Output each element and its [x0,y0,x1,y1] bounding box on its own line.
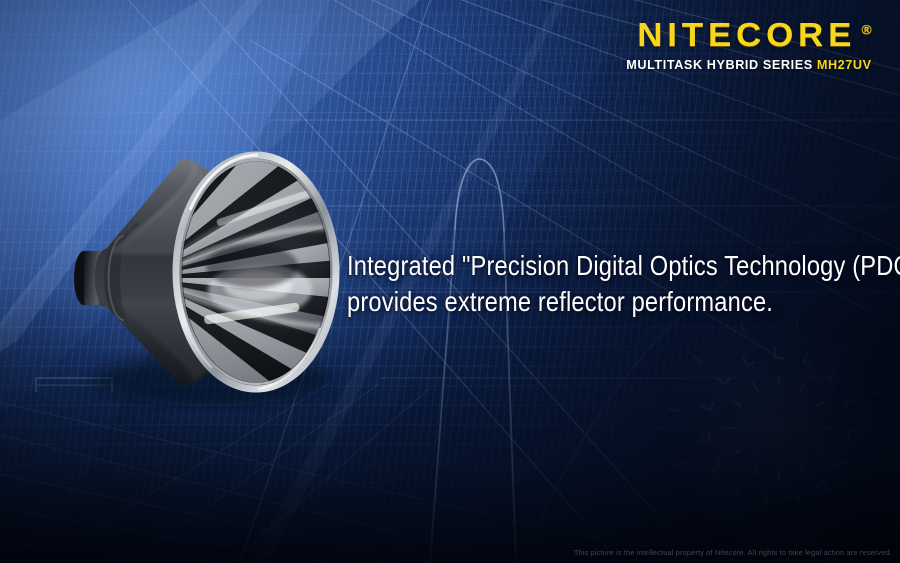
registered-trademark-icon: ® [862,22,872,37]
feature-headline: Integrated "Precision Digital Optics Tec… [347,248,811,320]
promotional-banner: NITECORE® MULTITASK HYBRID SERIES MH27UV… [0,0,900,563]
series-label: MULTITASK HYBRID SERIES [627,57,814,72]
headline-line-1: Integrated "Precision Digital Optics Tec… [347,248,811,284]
headline-line-2: provides extreme reflector performance. [347,284,811,320]
reflector-cone-image [62,128,372,413]
wordmark-text: NITECORE [638,16,857,53]
nitecore-wordmark: NITECORE® [601,18,872,51]
product-series-line: MULTITASK HYBRID SERIES MH27UV [627,58,872,71]
copyright-notice: This picture is the intellectual propert… [0,548,892,557]
brand-lockup: NITECORE® MULTITASK HYBRID SERIES MH27UV [616,18,872,71]
model-number: MH27UV [817,57,872,72]
